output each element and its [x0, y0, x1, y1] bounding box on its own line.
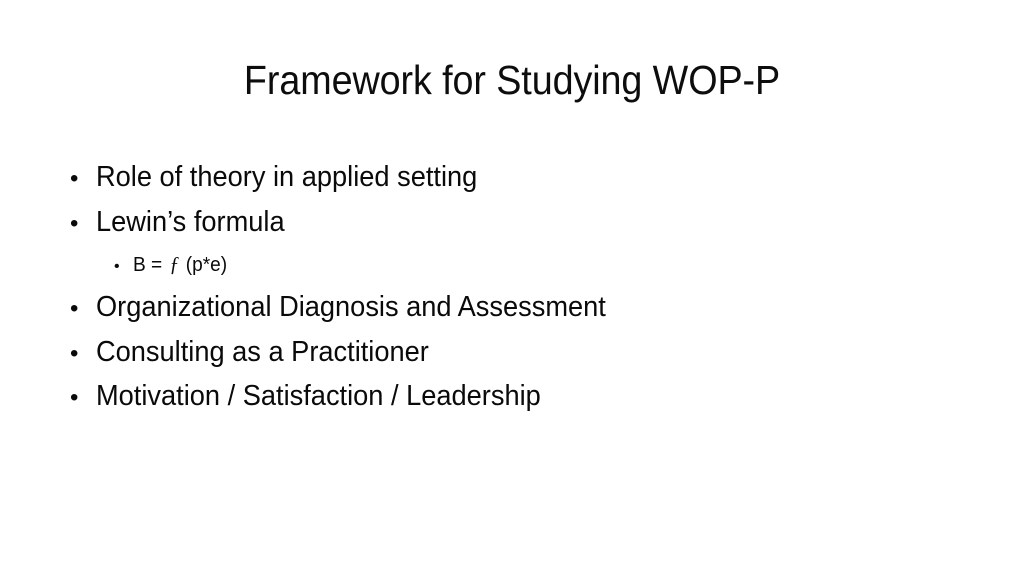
formula-label: B = ƒ (p*e) — [133, 245, 227, 284]
list-item-label: Motivation / Satisfaction / Leadership — [96, 375, 541, 418]
bullet-dot-icon: • — [70, 288, 96, 331]
list-item-label: Lewin’s formula — [96, 201, 285, 244]
list-item-label: Role of theory in applied setting — [96, 156, 477, 199]
formula-function-variable: ƒ — [168, 252, 181, 276]
list-item-label: Organizational Diagnosis and Assessment — [96, 286, 606, 329]
bullet-dot-icon: • — [70, 203, 96, 246]
formula-rhs: (p*e) — [180, 254, 227, 276]
slide-canvas: Framework for Studying WOP-P • Role of t… — [0, 0, 1024, 576]
bullet-list: • Role of theory in applied setting • Le… — [70, 156, 950, 420]
list-item: • Organizational Diagnosis and Assessmen… — [70, 286, 950, 331]
bullet-dot-icon: • — [70, 377, 96, 420]
list-item: • Motivation / Satisfaction / Leadership — [70, 375, 950, 420]
sub-list-item: • B = ƒ (p*e) — [70, 245, 950, 286]
bullet-dot-icon: • — [114, 248, 133, 286]
bullet-dot-icon: • — [70, 333, 96, 376]
list-item: • Consulting as a Practitioner — [70, 331, 950, 376]
list-item: • Role of theory in applied setting — [70, 156, 950, 201]
formula-lhs: B = — [133, 254, 168, 276]
list-item-label: Consulting as a Practitioner — [96, 331, 429, 374]
list-item: • Lewin’s formula — [70, 201, 950, 246]
page-title: Framework for Studying WOP-P — [41, 57, 983, 103]
bullet-dot-icon: • — [70, 158, 96, 201]
